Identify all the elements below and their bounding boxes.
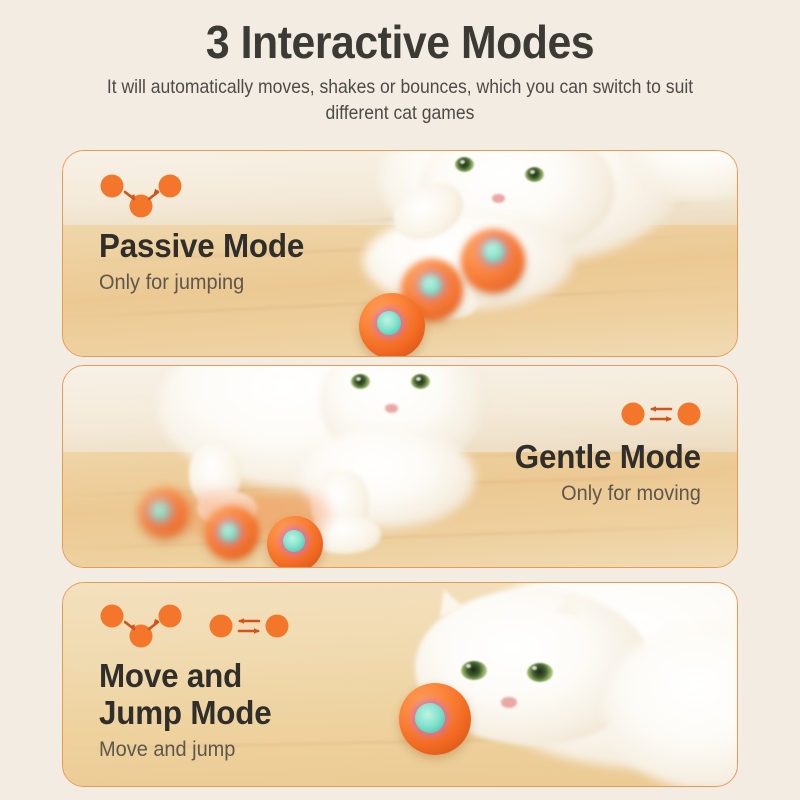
mode-icon-group (99, 173, 315, 219)
mode-title: Move and Jump Mode (99, 658, 280, 732)
ball-led-button (482, 240, 505, 263)
ball-led-button (283, 530, 305, 552)
product-ball (205, 506, 259, 560)
bounce-icon (99, 603, 183, 649)
cat-eye-right (527, 663, 553, 682)
mode-title: Passive Mode (99, 228, 304, 265)
move-icon (621, 398, 701, 430)
ball-led-button (377, 311, 401, 335)
mode-title: Gentle Mode (515, 439, 701, 476)
product-ball (139, 488, 189, 538)
mode-panel-move-and-jump[interactable]: Move and Jump Mode Move and jump (62, 582, 738, 787)
cat-eye-right (525, 167, 544, 182)
bounce-icon (99, 173, 183, 219)
ball-led-button (415, 703, 445, 733)
page-title: 3 Interactive Modes (28, 18, 772, 66)
cat-eye-left (455, 157, 474, 172)
mode-icon-group (99, 603, 289, 649)
mode-title-line-1: Move and (99, 658, 280, 695)
page-subtitle: It will automatically moves, shakes or b… (40, 75, 760, 127)
mode-panel-gentle[interactable]: Gentle Mode Only for moving (62, 365, 738, 568)
cat-eye-left (351, 374, 370, 389)
page-header: 3 Interactive Modes It will automaticall… (0, 0, 800, 127)
mode-label-gentle: Gentle Mode Only for moving (505, 398, 701, 506)
ball-led-button (420, 274, 442, 296)
mode-subtitle: Move and jump (99, 737, 280, 762)
product-ball (399, 683, 471, 755)
mode-label-move-and-jump: Move and Jump Mode Move and jump (99, 603, 289, 762)
mode-title-line-2: Jump Mode (99, 695, 280, 732)
mode-panel-passive[interactable]: Passive Mode Only for jumping (62, 150, 738, 357)
mode-subtitle: Only for jumping (99, 270, 304, 295)
product-ball (461, 229, 525, 293)
cat-nose (492, 194, 505, 203)
cat-nose (501, 697, 517, 708)
ball-led-button (150, 501, 170, 521)
mode-label-passive: Passive Mode Only for jumping (99, 173, 315, 295)
mode-panel-list: Passive Mode Only for jumping (62, 150, 738, 787)
mode-icon-group (505, 398, 701, 430)
product-ball (359, 293, 425, 356)
cat-eye-right (411, 374, 430, 389)
cat-nose (385, 404, 398, 413)
cat-ear-right (555, 589, 585, 618)
mode-subtitle: Only for moving (515, 481, 701, 506)
move-icon (209, 610, 289, 642)
cat-eye-left (461, 661, 487, 680)
ball-led-button (219, 522, 239, 542)
product-ball (267, 516, 323, 567)
